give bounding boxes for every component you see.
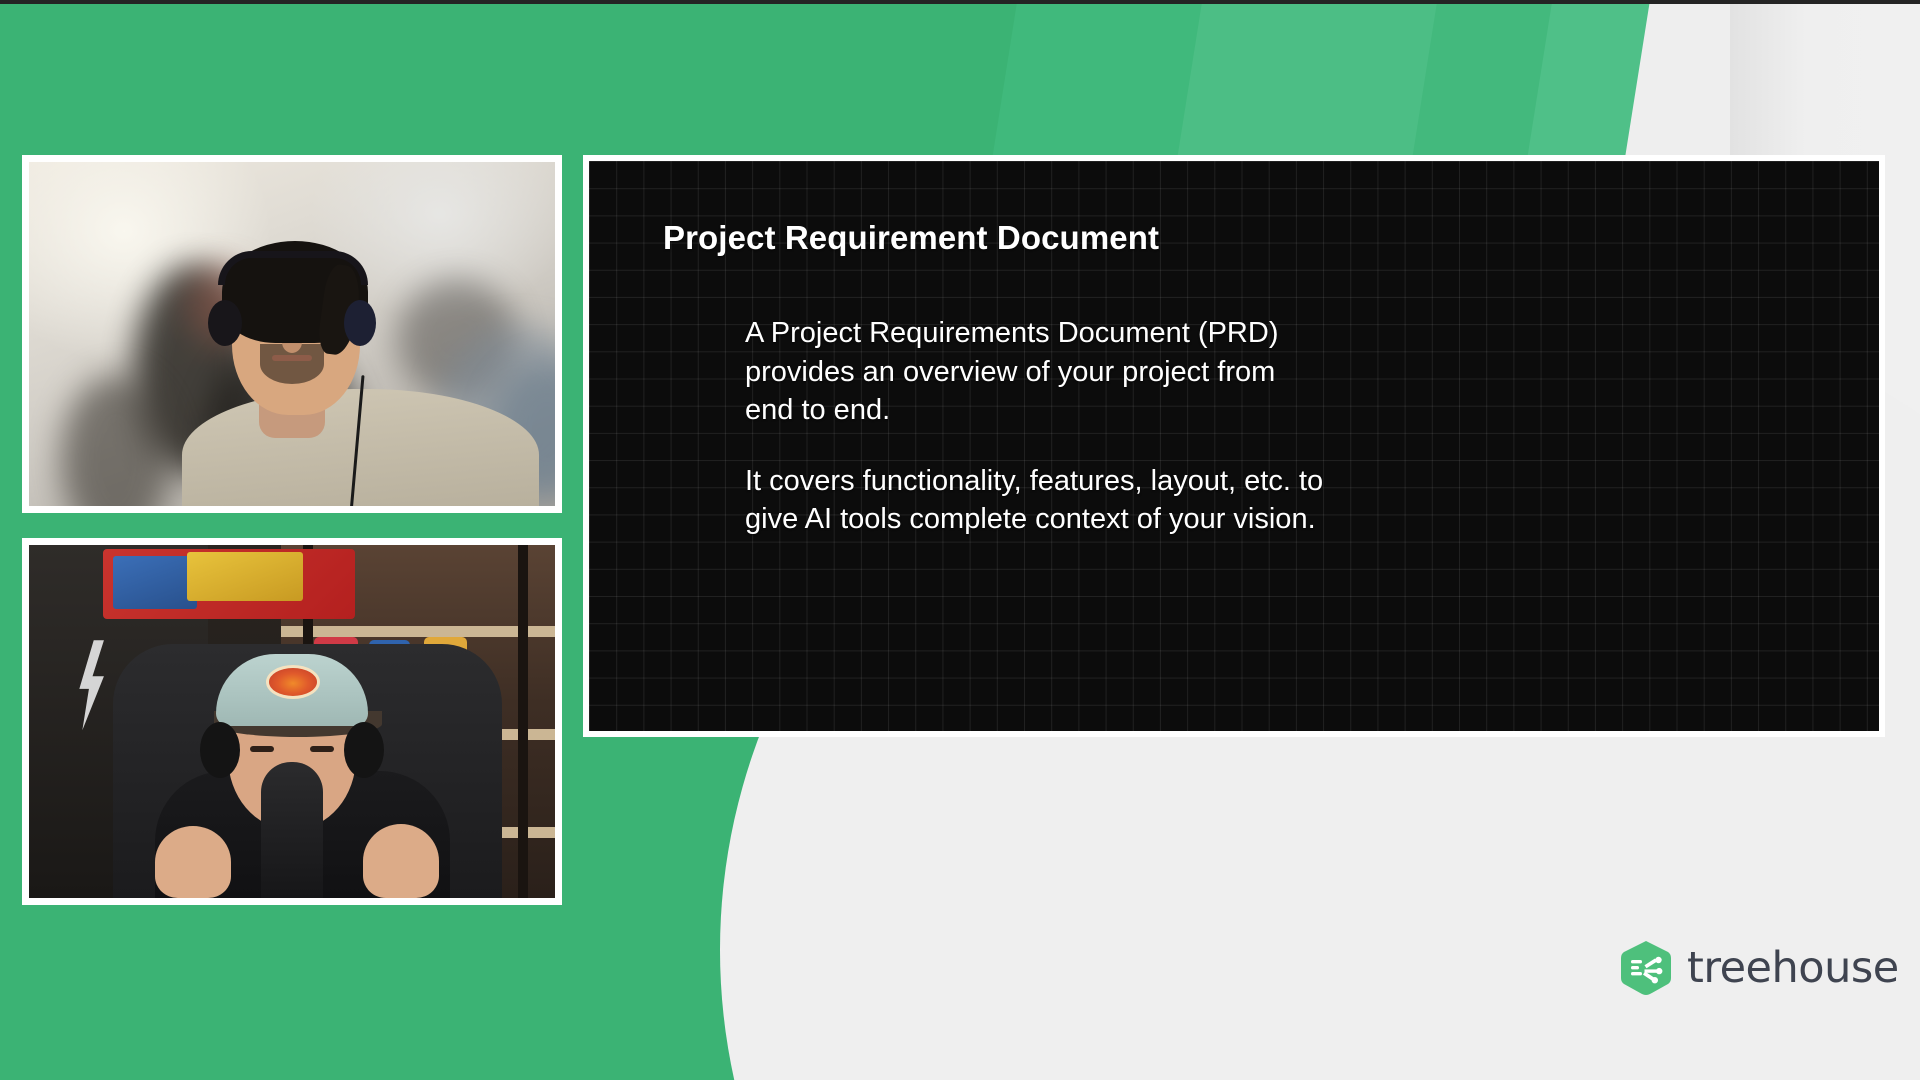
presenter-two-video <box>29 545 555 898</box>
presenter-one-mouth <box>272 355 312 361</box>
microphone-icon <box>261 762 323 898</box>
headphone-earcup <box>208 300 242 346</box>
slide-canvas: Project Requirement Document A Project R… <box>589 161 1879 731</box>
presenter-one-video <box>29 162 555 506</box>
headphone-earcup <box>200 722 240 778</box>
treehouse-hex-icon <box>1620 940 1672 996</box>
slide-paragraph-1: A Project Requirements Document (PRD) pr… <box>745 314 1645 430</box>
presenter-two-webcam[interactable] <box>22 538 562 905</box>
treehouse-logo: treehouse <box>1620 940 1899 996</box>
top-edge-strip <box>0 0 1920 4</box>
presenter-two-eye <box>310 746 334 752</box>
top-shelf-box <box>187 552 303 601</box>
top-shelf-box <box>113 556 197 609</box>
cap-logo-icon <box>266 665 320 699</box>
presenter-one-webcam[interactable] <box>22 155 562 513</box>
treehouse-wordmark: treehouse <box>1687 943 1899 993</box>
slide-paragraph-2: It covers functionality, features, layou… <box>745 462 1645 539</box>
headphones-headband-icon <box>218 251 368 285</box>
headphone-earcup <box>344 300 376 346</box>
slide-line: give AI tools complete context of your v… <box>745 500 1645 539</box>
slide-body: A Project Requirements Document (PRD) pr… <box>745 314 1645 539</box>
presenter-two-hand <box>155 826 231 898</box>
presenter-two-eye <box>250 746 274 752</box>
headphone-earcup <box>344 722 384 778</box>
slide-line: end to end. <box>745 391 1645 430</box>
shelf-board <box>281 626 555 637</box>
slide-line: provides an overview of your project fro… <box>745 353 1645 392</box>
presentation-stage: Project Requirement Document A Project R… <box>0 0 1920 1080</box>
slide-line: It covers functionality, features, layou… <box>745 462 1645 501</box>
slide-title: Project Requirement Document <box>663 219 1159 257</box>
shelf-post <box>518 545 528 898</box>
slide-line: A Project Requirements Document (PRD) <box>745 314 1645 353</box>
slide-panel[interactable]: Project Requirement Document A Project R… <box>583 155 1885 737</box>
presenter-two-hand <box>363 824 439 898</box>
